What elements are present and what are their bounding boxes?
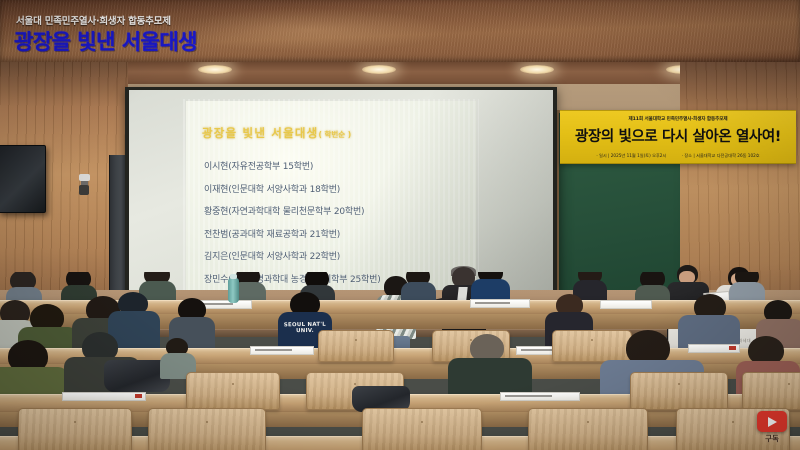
overlay-subtitle: 서울대 민족민주열사·희생자 합동추모제 (16, 13, 171, 27)
security-camera-icon (78, 174, 91, 196)
video-frame: 광장을 빛낸 서울대생( 학번순 ) 이시현(자유전공학부 15학번) 이재현(… (0, 0, 800, 450)
slide-heading: 광장을 빛낸 서울대생( 학번순 ) (202, 125, 351, 141)
youtube-subscribe-watermark[interactable]: 구독 (752, 411, 792, 444)
seat-back (552, 330, 632, 362)
slide-name-item: 김지은(인문대학 서양사학과 22학번) (204, 249, 474, 262)
program-leaflet (500, 392, 580, 401)
program-leaflet (470, 299, 530, 308)
banner-slogan: 광장의 빛으로 다시 살아온 열사여! (560, 125, 796, 146)
title-banner-area: 서울대 민족민주열사·희생자 합동추모제 광장을 빛낸 서울대생 (0, 0, 800, 62)
presentation-slide: 광장을 빛낸 서울대생( 학번순 ) 이시현(자유전공학부 15학번) 이재현(… (186, 101, 476, 301)
banner-place: · 장소 | 서울대학교 다전공대학 26동 102호 (682, 153, 760, 158)
subscribe-label[interactable]: 구독 (752, 433, 792, 444)
seat-back (528, 408, 648, 450)
ceiling-light (520, 65, 554, 74)
seat-back (630, 372, 728, 410)
program-leaflet (250, 346, 314, 355)
auditorium-seating: SEOUL NAT'L UNIV. (0, 272, 800, 450)
slide-heading-note: ( 학번순 ) (318, 130, 351, 139)
ceiling-light (362, 65, 396, 74)
program-leaflet (600, 300, 652, 309)
wall-mounted-monitor (0, 145, 46, 213)
seat-back (362, 408, 482, 450)
program-leaflet (62, 392, 146, 401)
memorial-banner: 제11회 서울대학교 민족민주열사·희생자 합동추모제 광장의 빛으로 다시 살… (560, 110, 796, 164)
banner-info-line: · 일시 | 2025년 11월 1일(토) 오후2시 · 장소 | 서울대학교… (560, 153, 796, 159)
water-bottle (228, 278, 239, 303)
seat-back (318, 330, 394, 362)
slide-name-item: 황중현(자연과학대학 물리천문학부 20학번) (204, 204, 474, 217)
ceiling-light (198, 65, 232, 74)
seat-back (742, 372, 800, 410)
seat-back (148, 408, 266, 450)
slide-name-item: 이재현(인문대학 서양사학과 18학번) (204, 182, 474, 195)
youtube-play-icon[interactable] (757, 411, 787, 432)
seat-back (18, 408, 132, 450)
banner-event-line: 제11회 서울대학교 민족민주열사·희생자 합동추모제 (560, 116, 796, 122)
banner-date: · 일시 | 2025년 11월 1일(토) 오후2시 (596, 153, 666, 158)
overlay-headline: 광장을 빛낸 서울대생 (14, 26, 197, 56)
slide-name-item: 이시현(자유전공학부 15학번) (204, 159, 474, 172)
program-leaflet (688, 344, 740, 353)
seat-back (186, 372, 280, 410)
slide-name-item: 전찬범(공과대학 재료공학과 21학번) (204, 227, 474, 240)
